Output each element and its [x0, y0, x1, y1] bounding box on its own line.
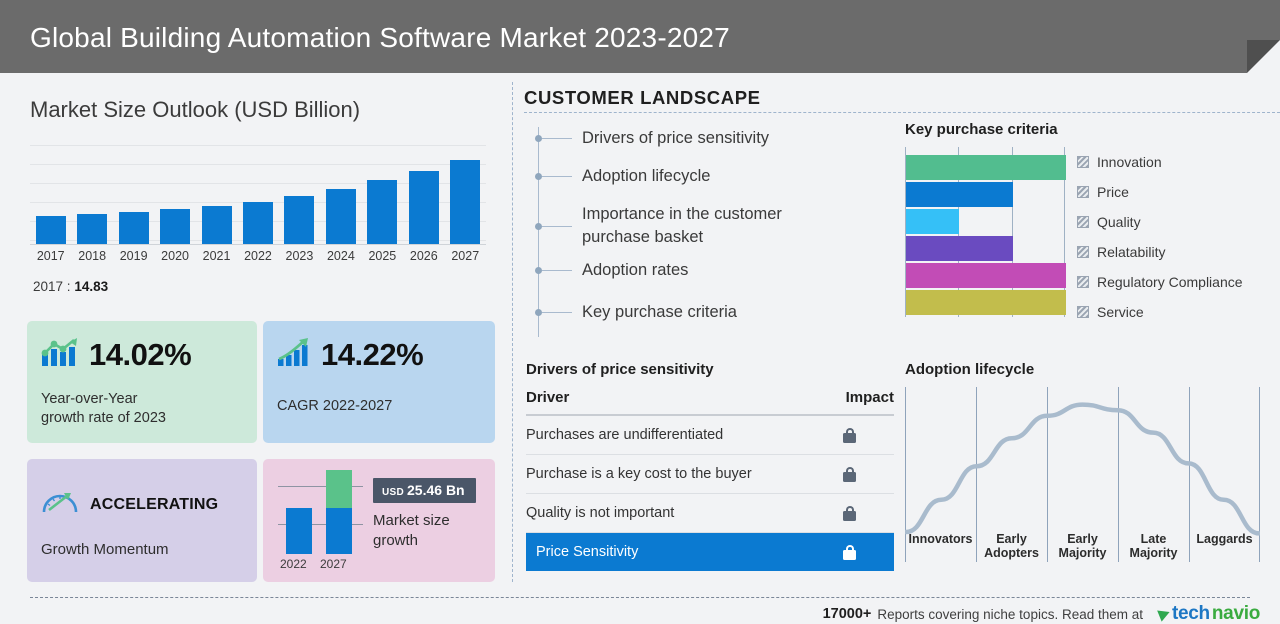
market-size-panel: Market Size Outlook (USD Billion) 201720…	[0, 73, 508, 585]
customer-landscape-panel: CUSTOMER LANDSCAPE Drivers of price sens…	[512, 73, 1280, 585]
hatch-swatch-icon	[1077, 246, 1089, 258]
kpc-legend-label: Regulatory Compliance	[1097, 274, 1243, 290]
bar-2019	[119, 212, 149, 245]
driver-row[interactable]: Quality is not important	[526, 494, 894, 533]
market-size-badge: USD25.46 Bn	[373, 478, 476, 503]
infographic-page: Global Building Automation Software Mark…	[0, 0, 1280, 624]
kpc-legend: InnovationPriceQualityRelatabilityRegula…	[1077, 147, 1243, 327]
tree-node-dot-icon	[535, 173, 542, 180]
chart-axis	[30, 244, 486, 245]
kpc-legend-label: Relatability	[1097, 244, 1165, 260]
chart-bars	[30, 145, 486, 245]
kpi-card-cagr: 14.22% CAGR 2022-2027	[263, 321, 495, 443]
kpc-legend-label: Quality	[1097, 214, 1141, 230]
drivers-table: Drivers of price sensitivity Driver Impa…	[526, 361, 894, 571]
kpi-yoy-caption-line2: growth rate of 2023	[41, 409, 166, 428]
logo-text-tech: tech	[1172, 603, 1210, 624]
kpc-legend-item: Regulatory Compliance	[1077, 267, 1243, 297]
kpi-card-growth: 2022 2027 USD25.46 Bn Market size growth	[263, 459, 495, 582]
kpc-bar-regulatory-compliance	[906, 263, 1066, 288]
drivers-table-title: Drivers of price sensitivity	[526, 361, 894, 378]
tree-node-dot-icon	[535, 267, 542, 274]
lock-icon	[843, 467, 856, 482]
page-title: Global Building Automation Software Mark…	[30, 22, 730, 54]
tree-node-dot-icon	[535, 309, 542, 316]
footer-divider	[30, 597, 1250, 598]
x-label-2020: 2020	[154, 249, 195, 263]
badge-value: 25.46 Bn	[407, 482, 465, 498]
bar-2024	[326, 189, 356, 245]
page-header: Global Building Automation Software Mark…	[0, 0, 1280, 73]
lock-icon	[843, 428, 856, 443]
kpi-card-yoy: 14.02% Year-over-Year growth rate of 202…	[27, 321, 257, 443]
hatch-swatch-icon	[1077, 306, 1089, 318]
tree-connector	[542, 176, 572, 177]
bar-slot	[71, 145, 112, 245]
growth-caption-line2: growth	[373, 531, 450, 551]
bar-slot	[320, 145, 361, 245]
x-label-2017: 2017	[30, 249, 71, 263]
tree-connector	[542, 138, 572, 139]
adoption-stage-label: Early Majority	[1047, 532, 1118, 560]
adoption-stage-label: Early Adopters	[976, 532, 1047, 560]
kpc-bar-service	[906, 290, 1066, 315]
bar-slot	[362, 145, 403, 245]
kpc-legend-label: Price	[1097, 184, 1129, 200]
bar-slot	[403, 145, 444, 245]
kpc-legend-item: Relatability	[1077, 237, 1243, 267]
x-label-2025: 2025	[362, 249, 403, 263]
logo-text-navio: navio	[1212, 603, 1260, 624]
x-label-2024: 2024	[320, 249, 361, 263]
x-label-2018: 2018	[71, 249, 112, 263]
adoption-plot-area: InnovatorsEarly AdoptersEarly MajorityLa…	[905, 387, 1260, 562]
kpi-card-momentum: ACCELERATING Growth Momentum	[27, 459, 257, 582]
bar-slot	[237, 145, 278, 245]
mini-bar-2027-growth	[326, 470, 352, 508]
report-count: 17000+	[823, 606, 872, 622]
hatch-swatch-icon	[1077, 276, 1089, 288]
tree-connector	[542, 312, 572, 313]
col-header-driver: Driver	[526, 389, 569, 406]
hatch-swatch-icon	[1077, 216, 1089, 228]
kpc-title: Key purchase criteria	[905, 121, 1058, 138]
footer-text: Reports covering niche topics. Read them…	[877, 607, 1143, 622]
bar-2017	[36, 216, 66, 245]
growth-caption: Market size growth	[373, 511, 450, 551]
bar-slot	[30, 145, 71, 245]
tree-node-dot-icon	[535, 135, 542, 142]
kpi-yoy-caption-line1: Year-over-Year	[41, 390, 166, 409]
speedometer-icon	[41, 489, 81, 520]
market-growth-mini-chart: 2022 2027	[278, 478, 363, 566]
driver-row[interactable]: Price Sensitivity	[526, 533, 894, 571]
horizontal-divider	[524, 112, 1280, 113]
x-label-2021: 2021	[196, 249, 237, 263]
key-purchase-criteria-chart: Key purchase criteria InnovationPriceQua…	[905, 121, 1277, 351]
bar-chart-trend-icon	[41, 338, 79, 373]
technavio-logo[interactable]: tech navio	[1159, 603, 1260, 624]
kpi-yoy-row: 14.02%	[41, 337, 191, 373]
kpc-legend-label: Service	[1097, 304, 1144, 320]
bar-slot	[113, 145, 154, 245]
first-year-value: 2017 : 14.83	[33, 279, 108, 294]
bar-2021	[202, 206, 232, 245]
mini-bar-2027	[326, 470, 352, 554]
tree-item-0[interactable]: Drivers of price sensitivity	[538, 127, 769, 150]
section-title-market-size: Market Size Outlook (USD Billion)	[30, 97, 360, 123]
kpc-legend-item: Innovation	[1077, 147, 1243, 177]
x-label-2027: 2027	[445, 249, 486, 263]
tree-connector	[542, 270, 572, 271]
technavio-mark-icon	[1157, 606, 1172, 621]
x-label-2019: 2019	[113, 249, 154, 263]
bar-slot	[279, 145, 320, 245]
kpc-plot-area	[905, 147, 1065, 317]
tree-item-1[interactable]: Adoption lifecycle	[538, 165, 710, 188]
tree-item-label: Importance in the customer purchase bask…	[582, 203, 832, 249]
x-label-2023: 2023	[279, 249, 320, 263]
kpc-legend-item: Price	[1077, 177, 1243, 207]
first-year-number: 14.83	[74, 279, 108, 294]
driver-name: Price Sensitivity	[536, 544, 638, 560]
kpc-bar-innovation	[906, 155, 1066, 180]
kpi-cagr-caption: CAGR 2022-2027	[277, 397, 392, 416]
lock-icon	[843, 545, 856, 560]
growth-caption-line1: Market size	[373, 511, 450, 531]
tree-item-label: Adoption rates	[582, 259, 688, 282]
first-year-label: 2017 :	[33, 279, 71, 294]
kpc-legend-item: Service	[1077, 297, 1243, 327]
tree-item-label: Drivers of price sensitivity	[582, 127, 769, 150]
chart-x-labels: 2017201820192020202120222023202420252026…	[30, 249, 486, 263]
adoption-stage-label: Innovators	[905, 532, 976, 560]
kpi-cagr-value: 14.22%	[321, 337, 423, 373]
kpi-yoy-value: 14.02%	[89, 337, 191, 373]
market-size-bar-chart	[30, 145, 486, 245]
bar-2025	[367, 180, 397, 245]
driver-name: Purchases are undifferentiated	[526, 427, 723, 443]
adoption-stage-label: Late Majority	[1118, 532, 1189, 560]
tree-item-4[interactable]: Key purchase criteria	[538, 301, 737, 324]
kpi-yoy-caption: Year-over-Year growth rate of 2023	[41, 390, 166, 428]
hatch-swatch-icon	[1077, 156, 1089, 168]
kpc-legend-item: Quality	[1077, 207, 1243, 237]
page-footer: 17000+ Reports covering niche topics. Re…	[0, 604, 1280, 624]
kpc-bar-relatability	[906, 236, 1013, 261]
bar-2027	[450, 160, 480, 245]
mini-bar-2022-base	[286, 508, 312, 554]
x-label-2026: 2026	[403, 249, 444, 263]
tree-node-dot-icon	[535, 223, 542, 230]
drivers-table-header: Driver Impact	[526, 389, 894, 416]
bar-2026	[409, 171, 439, 245]
hatch-swatch-icon	[1077, 186, 1089, 198]
bar-slot	[154, 145, 195, 245]
momentum-caption: Growth Momentum	[41, 541, 169, 558]
bar-2022	[243, 202, 273, 245]
adoption-lifecycle-chart: Adoption lifecycle InnovatorsEarly Adopt…	[905, 361, 1277, 571]
tree-item-label: Adoption lifecycle	[582, 165, 710, 188]
bar-slot	[196, 145, 237, 245]
momentum-status: ACCELERATING	[90, 496, 218, 514]
mini-label-2022: 2022	[280, 557, 307, 571]
badge-currency: USD	[382, 487, 404, 498]
momentum-row: ACCELERATING	[41, 489, 218, 520]
driver-row[interactable]: Purchases are undifferentiated	[526, 416, 894, 455]
driver-name: Purchase is a key cost to the buyer	[526, 466, 752, 482]
kpi-cagr-row: 14.22%	[277, 337, 423, 373]
adoption-stage-labels: InnovatorsEarly AdoptersEarly MajorityLa…	[905, 532, 1260, 560]
col-header-impact: Impact	[846, 389, 894, 406]
customer-landscape-title: CUSTOMER LANDSCAPE	[524, 87, 761, 109]
mini-bar-2027-base	[326, 508, 352, 554]
kpc-legend-label: Innovation	[1097, 154, 1162, 170]
tree-item-2[interactable]: Importance in the customer purchase bask…	[538, 203, 832, 249]
lock-icon	[843, 506, 856, 521]
kpc-bar-price	[906, 182, 1013, 207]
bar-slot	[445, 145, 486, 245]
customer-landscape-tree: Drivers of price sensitivityAdoption lif…	[538, 121, 898, 351]
driver-name: Quality is not important	[526, 505, 674, 521]
bar-2020	[160, 209, 190, 245]
tree-connector	[542, 226, 572, 227]
bar-2018	[77, 214, 107, 245]
mini-bar-2022	[286, 508, 312, 554]
bar-2023	[284, 196, 314, 245]
adoption-stage-label: Laggards	[1189, 532, 1260, 560]
driver-row[interactable]: Purchase is a key cost to the buyer	[526, 455, 894, 494]
tree-item-3[interactable]: Adoption rates	[538, 259, 688, 282]
tree-item-label: Key purchase criteria	[582, 301, 737, 324]
adoption-lifecycle-title: Adoption lifecycle	[905, 361, 1277, 378]
x-label-2022: 2022	[237, 249, 278, 263]
mini-label-2027: 2027	[320, 557, 347, 571]
bar-chart-arrow-icon	[277, 338, 311, 373]
kpc-bar-quality	[906, 209, 959, 234]
